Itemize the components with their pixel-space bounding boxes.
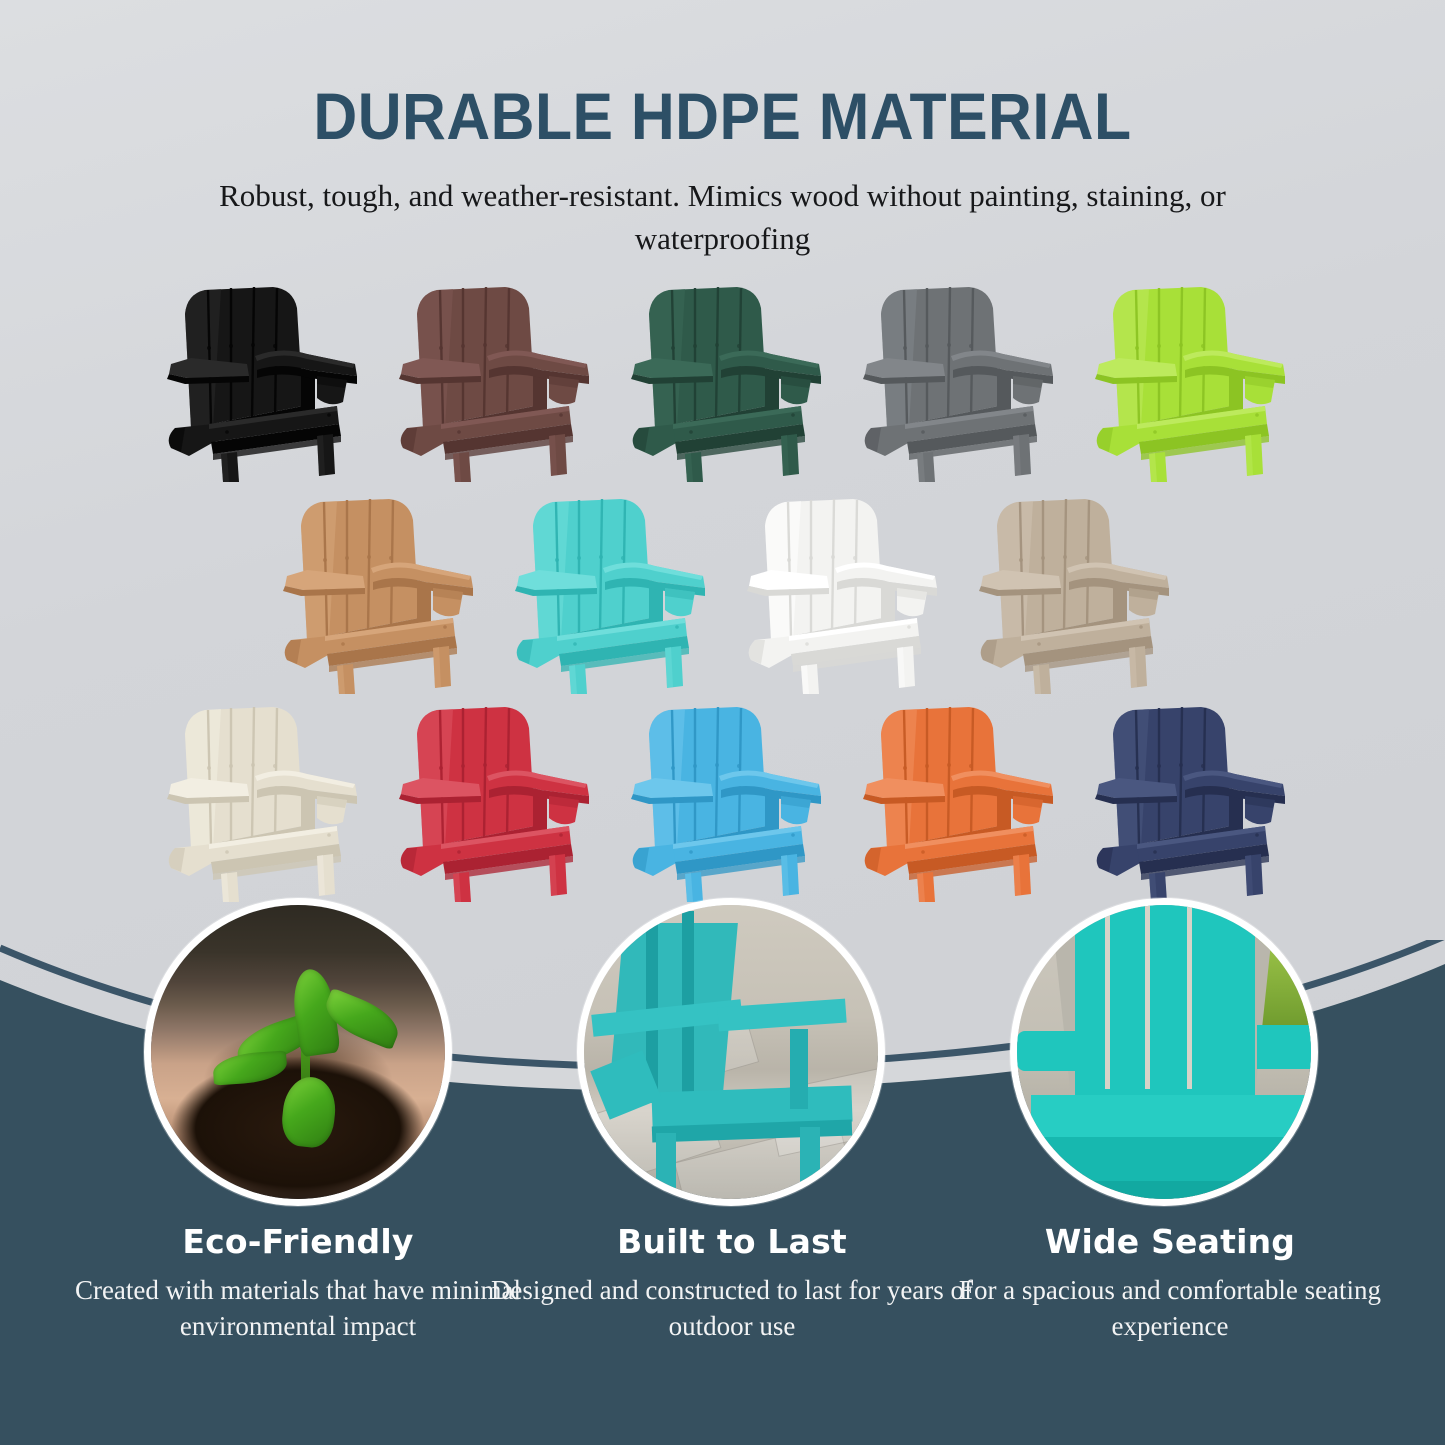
adirondack-chair-icon: [267, 490, 482, 695]
adirondack-chair-icon: [499, 490, 714, 695]
chair-swatch-teak[interactable]: [259, 488, 491, 696]
feature-image-built-to-last: [577, 898, 885, 1206]
chair-on-patio-photo: [584, 905, 878, 1199]
adirondack-chair-icon: [615, 278, 830, 483]
adirondack-chair-icon: [383, 278, 598, 483]
chair-swatch-light-blue[interactable]: [607, 696, 839, 904]
adirondack-chair-icon: [383, 698, 598, 903]
adirondack-chair-icon: [963, 490, 1178, 695]
feature-description: For a spacious and comfortable seating e…: [910, 1273, 1430, 1344]
adirondack-chair-icon: [151, 698, 366, 903]
chair-row-3: [0, 696, 1445, 904]
chair-swatch-brown[interactable]: [375, 272, 607, 488]
page-subtitle: Robust, tough, and weather-resistant. Mi…: [218, 175, 1228, 261]
chair-swatch-dark-green[interactable]: [607, 272, 839, 488]
adirondack-chair-icon: [847, 698, 1062, 903]
adirondack-chair-icon: [1079, 278, 1294, 483]
page-title: DURABLE HDPE MATERIAL: [58, 78, 1387, 154]
chair-row-2: [0, 488, 1445, 696]
adirondack-chair-icon: [731, 490, 946, 695]
adirondack-chair-icon: [151, 278, 366, 483]
chair-swatch-lime-green[interactable]: [1071, 272, 1303, 488]
feature-image-row: [0, 890, 1445, 1220]
chair-swatch-white[interactable]: [723, 488, 955, 696]
feature-title: Wide Seating: [910, 1222, 1430, 1261]
chair-swatch-orange[interactable]: [839, 696, 1071, 904]
chair-swatch-turquoise[interactable]: [491, 488, 723, 696]
adirondack-chair-icon: [615, 698, 830, 903]
adirondack-chair-icon: [847, 278, 1062, 483]
feature-wide-seating: Wide Seating For a spacious and comforta…: [910, 1222, 1430, 1344]
hands-seedling-photo: [151, 905, 445, 1199]
chair-swatch-taupe[interactable]: [955, 488, 1187, 696]
chair-seat-closeup-photo: [1017, 905, 1311, 1199]
chair-row-1: [0, 272, 1445, 488]
chair-color-grid: [0, 272, 1445, 904]
feature-image-wide-seating: [1010, 898, 1318, 1206]
chair-swatch-navy[interactable]: [1071, 696, 1303, 904]
chair-swatch-red[interactable]: [375, 696, 607, 904]
infographic-canvas: DURABLE HDPE MATERIAL Robust, tough, and…: [0, 0, 1445, 1445]
feature-image-eco-friendly: [144, 898, 452, 1206]
chair-swatch-beige[interactable]: [143, 696, 375, 904]
chair-swatch-gray[interactable]: [839, 272, 1071, 488]
chair-swatch-black[interactable]: [143, 272, 375, 488]
adirondack-chair-icon: [1079, 698, 1294, 903]
